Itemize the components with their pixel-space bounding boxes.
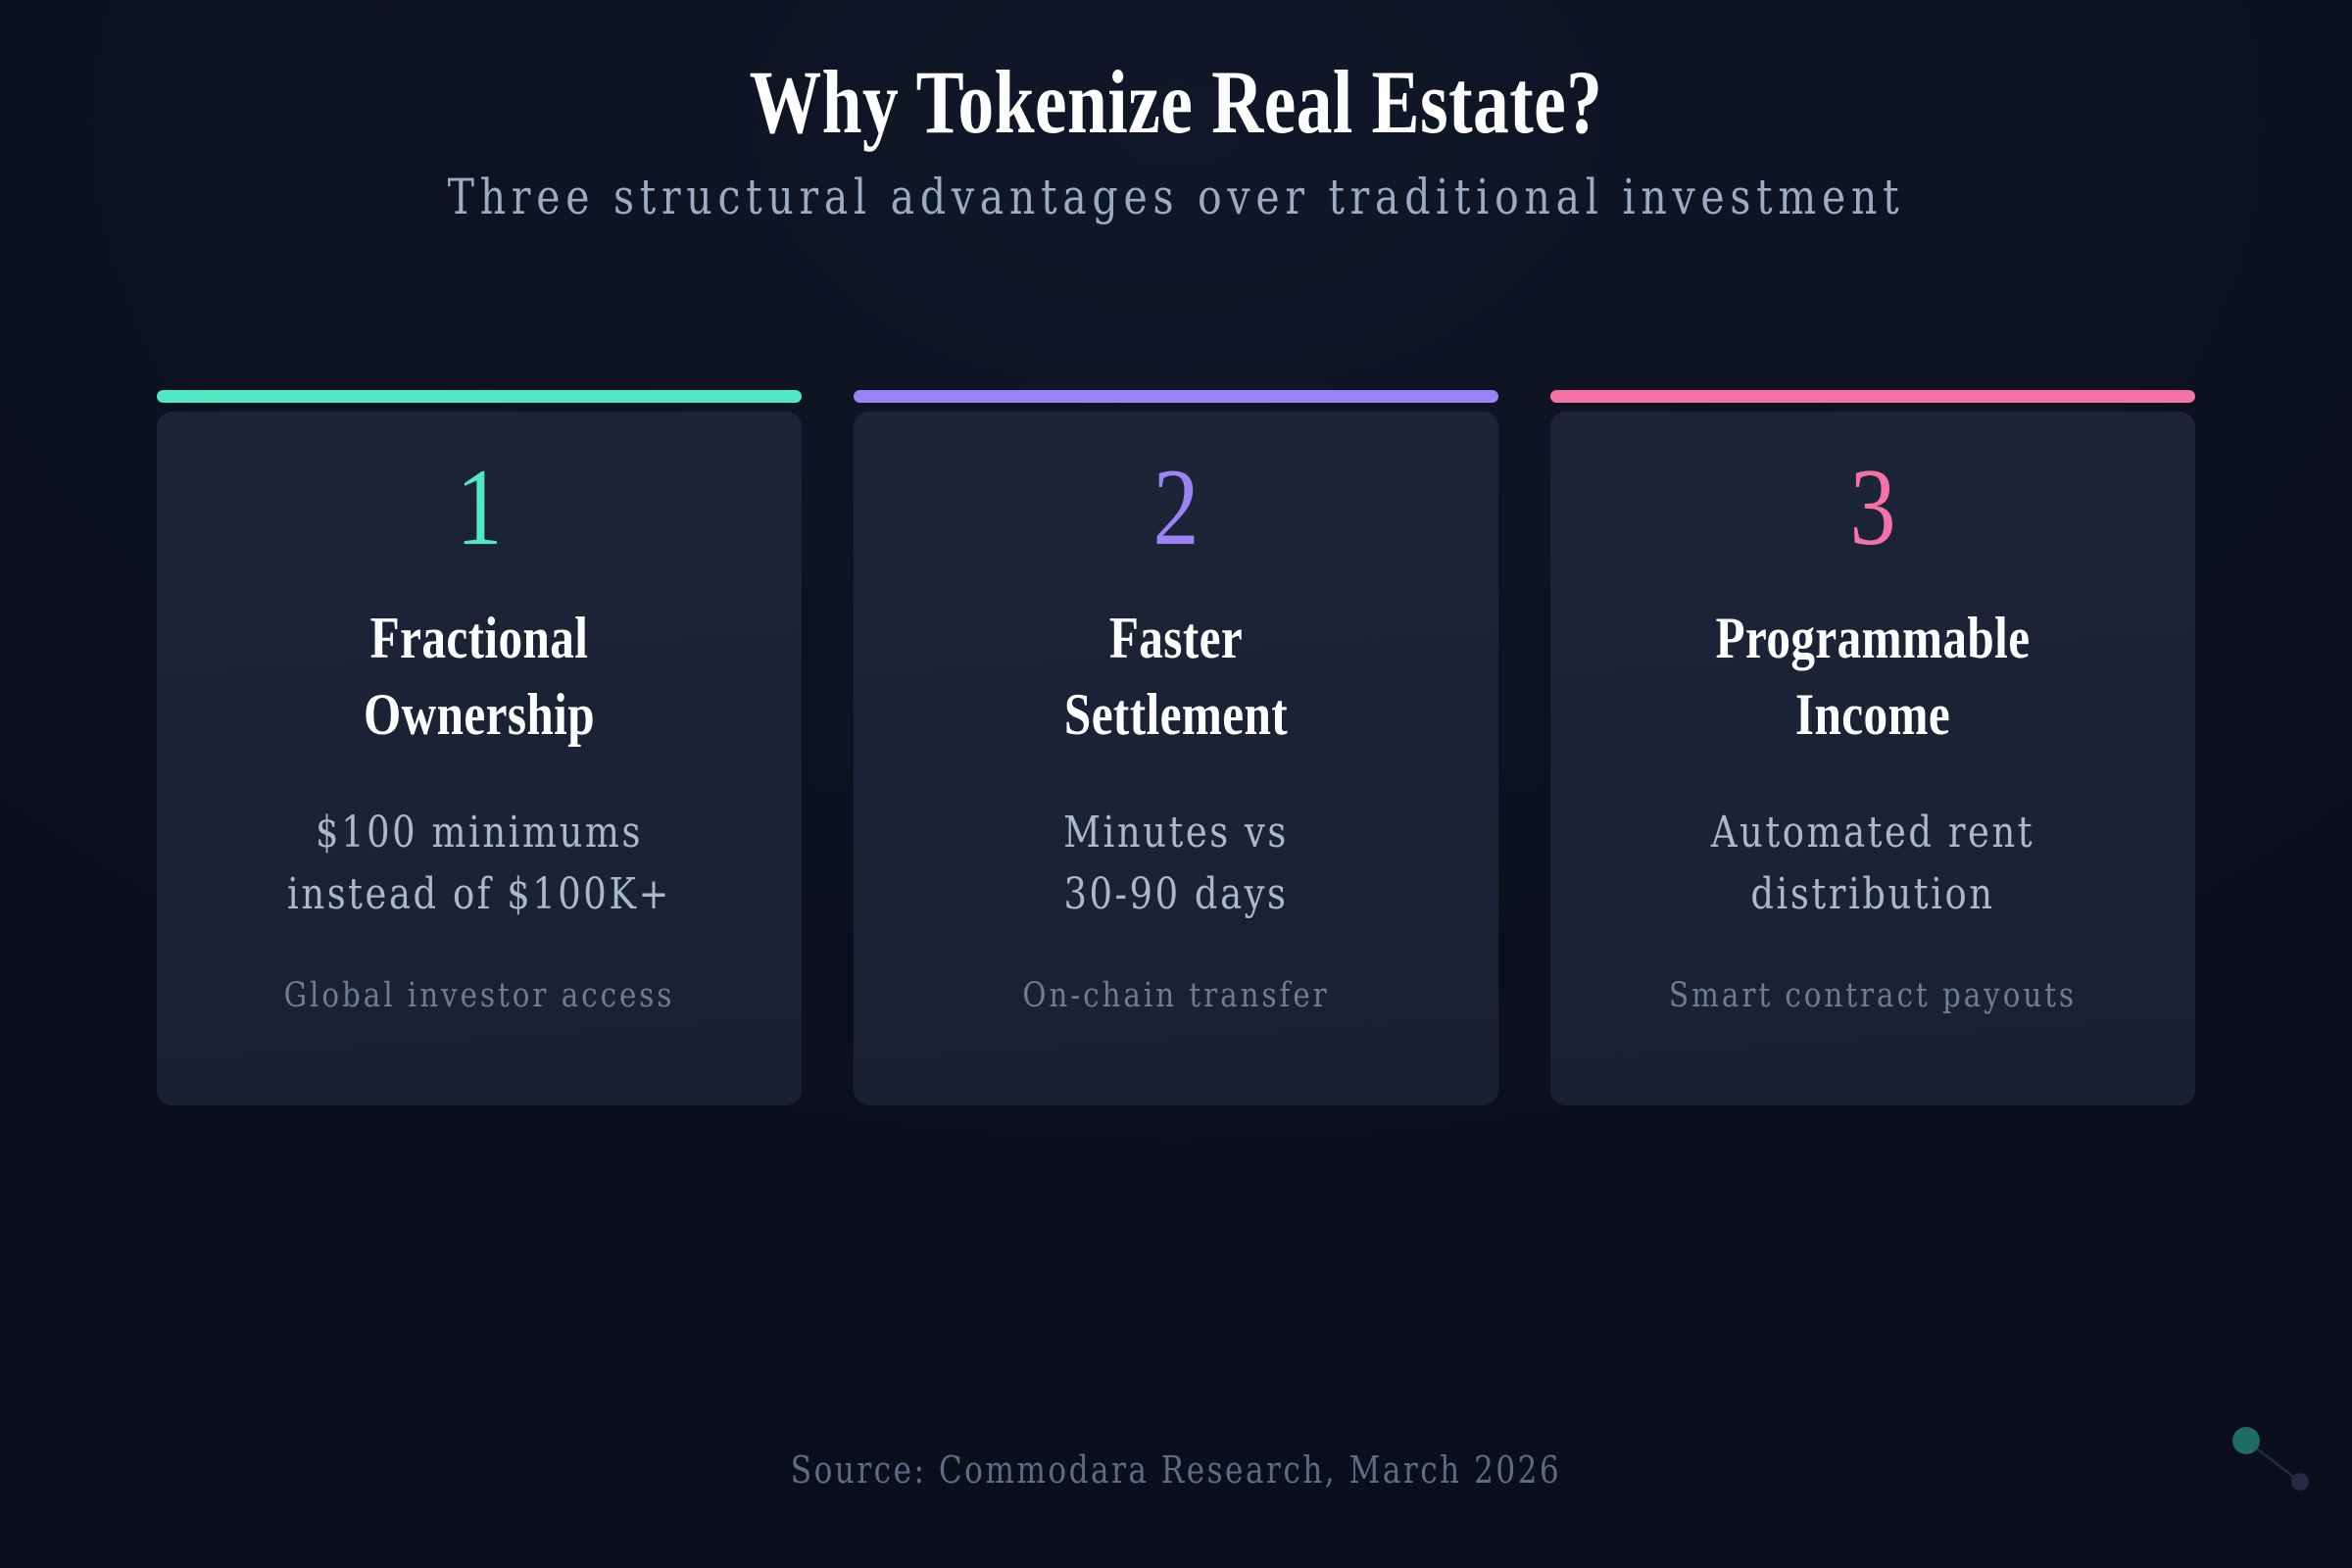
card-detail-3-line1: Automated rent [1630,802,2116,863]
card-detail-2-line2: 30-90 days [933,863,1419,925]
card-detail-1: $100 minimums instead of $100K+ [236,802,722,931]
card-body-1: 1 Fractional Ownership $100 minimums ins… [157,412,802,1105]
card-title-2-line1: Faster [939,600,1413,676]
card-title-3: Programmable Income [1636,600,2110,757]
card-body-2: 2 Faster Settlement Minutes vs 30-90 day… [854,412,1498,1105]
card-number-1: 1 [236,453,722,566]
advantage-card-1[interactable]: 1 Fractional Ownership $100 minimums ins… [157,390,802,1105]
card-detail-2-line1: Minutes vs [933,802,1419,863]
card-title-2: Faster Settlement [939,600,1413,757]
card-title-1-line1: Fractional [242,600,716,676]
card-caption-3: Smart contract payouts [1630,974,2116,1019]
advantage-card-2[interactable]: 2 Faster Settlement Minutes vs 30-90 day… [854,390,1498,1105]
card-detail-3: Automated rent distribution [1630,802,2116,931]
slide-header: Why Tokenize Real Estate? Three structur… [0,0,2352,221]
card-caption-1: Global investor access [236,974,722,1019]
card-title-1-line2: Ownership [242,676,716,753]
source-citation: Source: Commodara Research, March 2026 [212,1448,2140,1492]
advantage-card-3[interactable]: 3 Programmable Income Automated rent dis… [1550,390,2195,1105]
network-node-decoration [2205,1401,2352,1529]
card-title-2-line2: Settlement [939,676,1413,753]
card-title-3-line1: Programmable [1636,600,2110,676]
node-dot-teal [2232,1427,2260,1454]
accent-bar-3 [1550,390,2195,403]
card-caption-2: On-chain transfer [933,974,1419,1019]
page-title: Why Tokenize Real Estate? [235,0,2117,147]
card-number-3: 3 [1630,453,2116,566]
card-detail-2: Minutes vs 30-90 days [933,802,1419,931]
card-detail-3-line2: distribution [1630,863,2116,925]
card-title-1: Fractional Ownership [242,600,716,757]
node-dot-purple [2291,1473,2309,1491]
card-title-3-line2: Income [1636,676,2110,753]
card-detail-1-line2: instead of $100K+ [236,863,722,925]
slide-canvas: Why Tokenize Real Estate? Three structur… [0,0,2352,1568]
card-number-2: 2 [933,453,1419,566]
advantage-card-group: 1 Fractional Ownership $100 minimums ins… [157,390,2195,1105]
card-detail-1-line1: $100 minimums [236,802,722,863]
accent-bar-2 [854,390,1498,403]
accent-bar-1 [157,390,802,403]
card-body-3: 3 Programmable Income Automated rent dis… [1550,412,2195,1105]
page-subtitle: Three structural advantages over traditi… [212,147,2140,221]
node-link-line [2246,1441,2300,1482]
